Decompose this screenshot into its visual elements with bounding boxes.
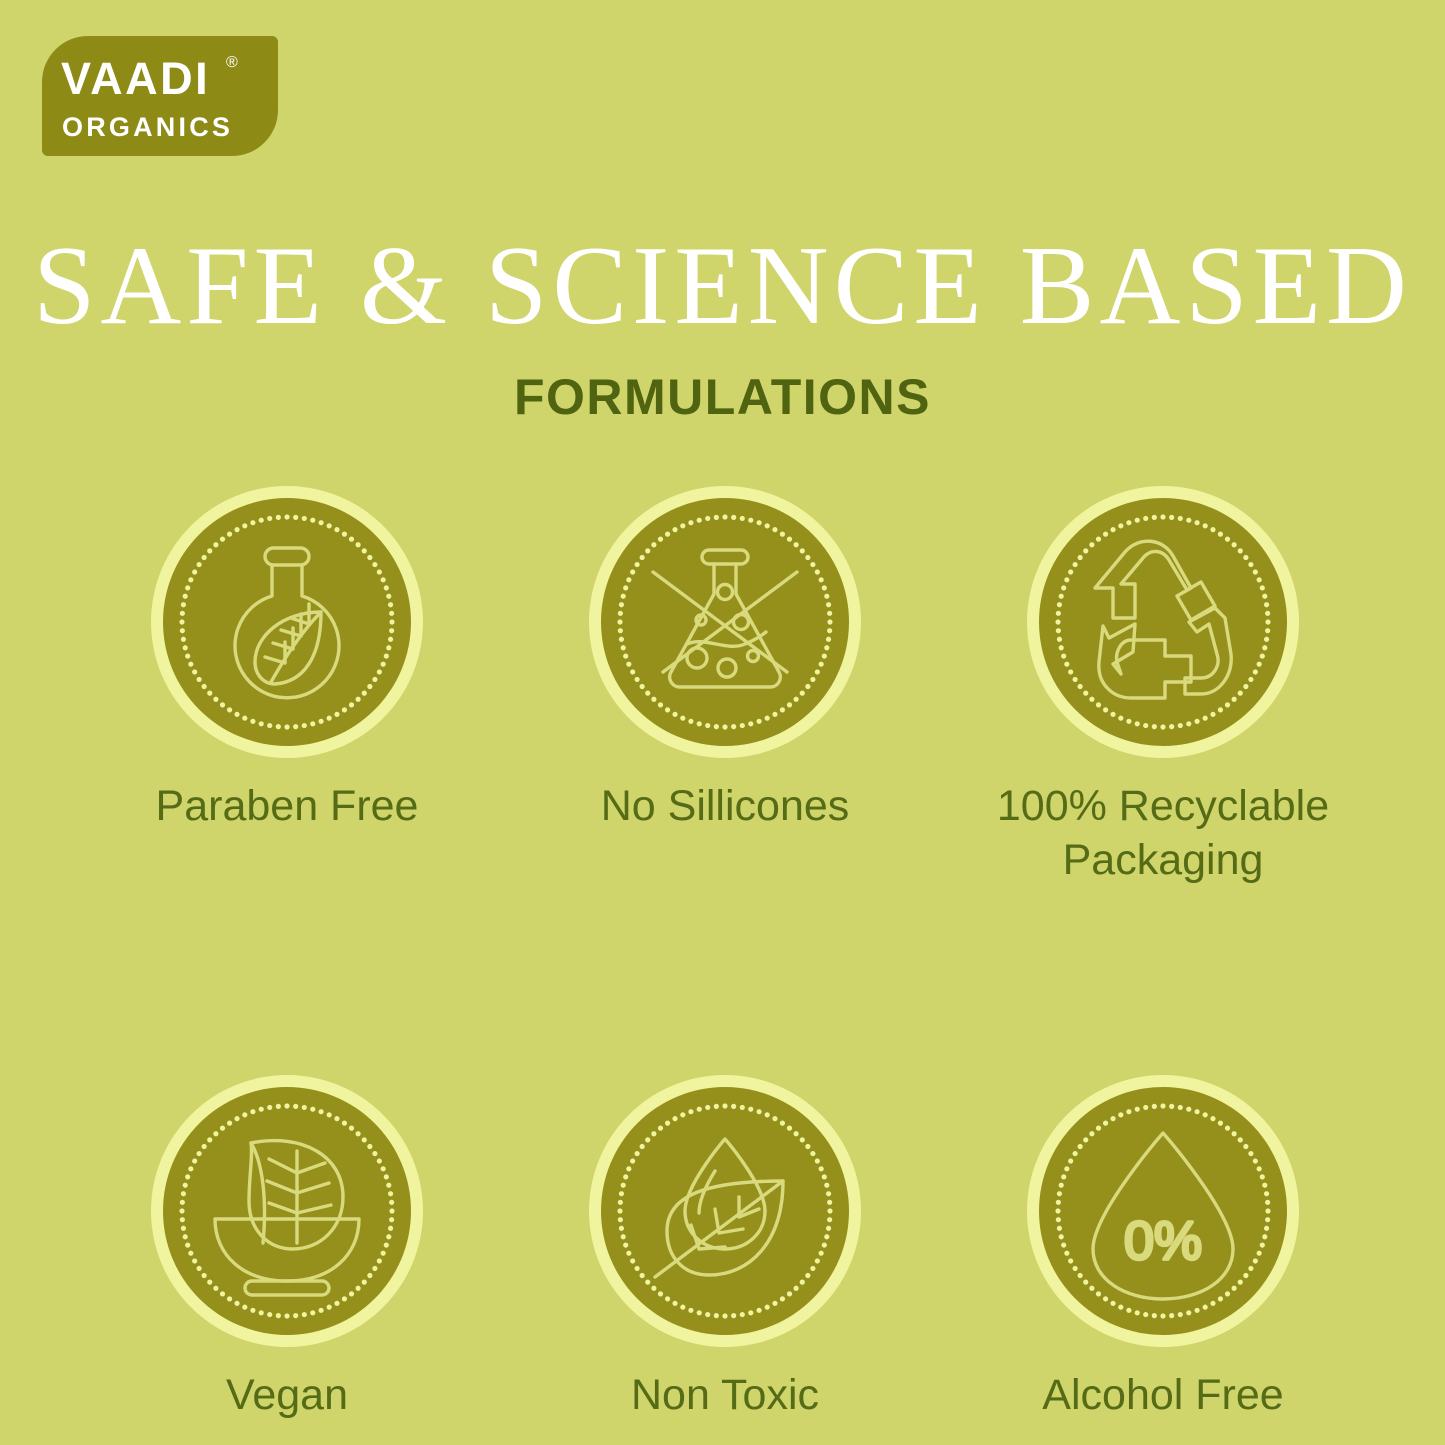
- flask-with-leaf-icon: [197, 532, 377, 712]
- page-title: SAFE & SCIENCE BASED: [0, 228, 1445, 346]
- bowl-with-leaf-icon: [197, 1121, 377, 1301]
- badge-label: Paraben Free: [156, 780, 419, 834]
- badge-inner-disc: [163, 1087, 411, 1335]
- brand-wordmark: VAADI: [61, 56, 210, 101]
- promotional-poster: VAADI ® ORGANICS SAFE & SCIENCE BASED FO…: [0, 0, 1445, 1445]
- badge-disc: [151, 486, 423, 758]
- badge-row-bottom: Vegan: [0, 1075, 1445, 1423]
- badge-disc: 0%: [1027, 1075, 1299, 1347]
- recycle-arrows-icon: [1073, 532, 1253, 712]
- registered-trademark-icon: ®: [226, 55, 238, 71]
- page-subtitle: FORMULATIONS: [0, 372, 1445, 422]
- zero-percent-droplet-icon: 0%: [1073, 1121, 1253, 1301]
- crossed-out-erlenmeyer-flask-icon: [635, 532, 815, 712]
- badge-inner-disc: [1039, 498, 1287, 746]
- badge-label: Alcohol Free: [1042, 1369, 1283, 1423]
- badge-disc: [589, 486, 861, 758]
- badge-disc: [1027, 486, 1299, 758]
- feature-badge-paraben-free: Paraben Free: [68, 486, 506, 888]
- badge-disc: [151, 1075, 423, 1347]
- badge-inner-disc: [601, 498, 849, 746]
- badge-label: 100% Recyclable Packaging: [953, 780, 1373, 888]
- badge-inner-disc: [163, 498, 411, 746]
- droplet-on-leaf-icon: [635, 1121, 815, 1301]
- badge-label: No Sillicones: [601, 780, 850, 834]
- feature-badge-non-toxic: Non Toxic: [506, 1075, 944, 1423]
- badge-row-top: Paraben Free: [0, 486, 1445, 888]
- badge-disc: [589, 1075, 861, 1347]
- brand-logo: VAADI ® ORGANICS: [42, 36, 278, 156]
- zero-percent-label: 0%: [1124, 1211, 1202, 1271]
- feature-badge-alcohol-free: 0% Alcohol Free: [944, 1075, 1382, 1423]
- badge-label: Non Toxic: [631, 1369, 819, 1423]
- brand-tagline: ORGANICS: [62, 114, 233, 141]
- feature-badge-grid: Paraben Free: [0, 486, 1445, 1422]
- badge-inner-disc: 0%: [1039, 1087, 1287, 1335]
- badge-label: Vegan: [226, 1369, 348, 1423]
- feature-badge-no-sillicones: No Sillicones: [506, 486, 944, 888]
- feature-badge-vegan: Vegan: [68, 1075, 506, 1423]
- badge-inner-disc: [601, 1087, 849, 1335]
- feature-badge-recyclable-packaging: 100% Recyclable Packaging: [944, 486, 1382, 888]
